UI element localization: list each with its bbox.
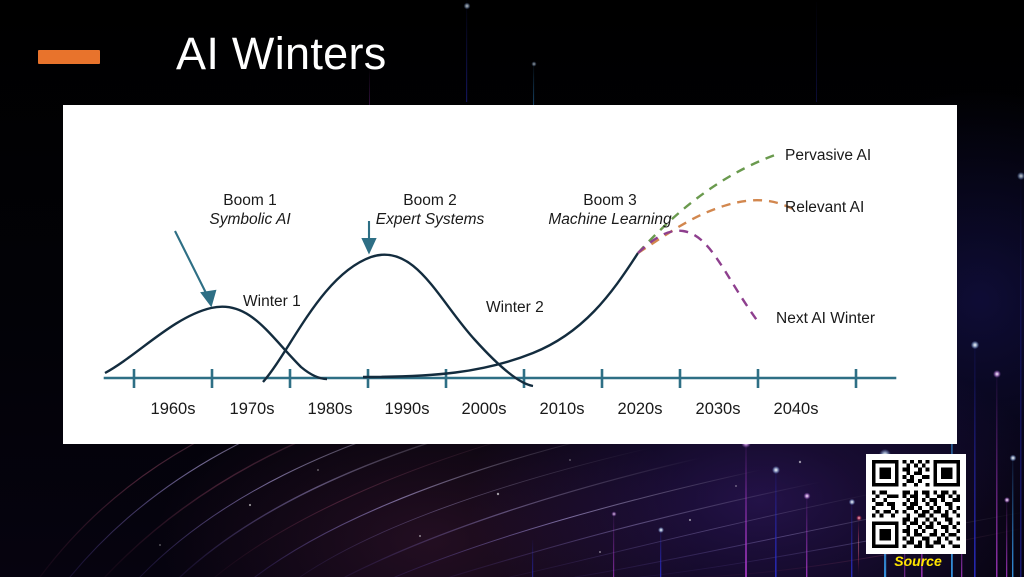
boom-3-title: Boom 3 — [583, 192, 636, 209]
curve-next-ai-winter — [638, 231, 759, 323]
boom-1-subtitle: Symbolic AI — [209, 210, 290, 229]
tick-label-2030s: 2030s — [696, 400, 741, 419]
tick-label-1990s: 1990s — [385, 400, 430, 419]
annotation-boom-1: Boom 1 Symbolic AI — [209, 191, 290, 229]
qr-code-icon[interactable] — [866, 454, 966, 554]
boom-3-subtitle: Machine Learning — [548, 210, 671, 229]
label-relevant-ai: Relevant AI — [785, 199, 864, 217]
tick-label-2000s: 2000s — [462, 400, 507, 419]
boom-2-title: Boom 2 — [403, 192, 456, 209]
annotation-winter-2: Winter 2 — [486, 298, 544, 317]
slide-canvas: AI Winters — [0, 0, 1024, 577]
tick-label-1960s: 1960s — [151, 400, 196, 419]
label-pervasive-ai: Pervasive AI — [785, 147, 871, 165]
source-label[interactable]: Source — [866, 553, 970, 570]
chart-panel: Boom 1 Symbolic AI Boom 2 Expert Systems… — [63, 105, 957, 444]
page-title: AI Winters — [176, 24, 387, 84]
curve-boom-1 — [105, 307, 327, 379]
boom-2-arrow — [363, 221, 375, 252]
annotation-boom-2: Boom 2 Expert Systems — [376, 191, 485, 229]
tick-label-2010s: 2010s — [540, 400, 585, 419]
tick-label-2040s: 2040s — [774, 400, 819, 419]
label-next-ai-winter: Next AI Winter — [776, 310, 875, 328]
source-qr-block[interactable]: Source — [866, 454, 970, 572]
annotation-winter-1: Winter 1 — [243, 292, 301, 311]
title-accent-dash — [38, 50, 100, 64]
tick-label-2020s: 2020s — [618, 400, 663, 419]
tick-label-1970s: 1970s — [230, 400, 275, 419]
tick-label-1980s: 1980s — [308, 400, 353, 419]
boom-2-subtitle: Expert Systems — [376, 210, 485, 229]
boom-1-title: Boom 1 — [223, 192, 276, 209]
annotation-boom-3: Boom 3 Machine Learning — [548, 191, 671, 229]
boom-1-arrow — [175, 231, 215, 305]
